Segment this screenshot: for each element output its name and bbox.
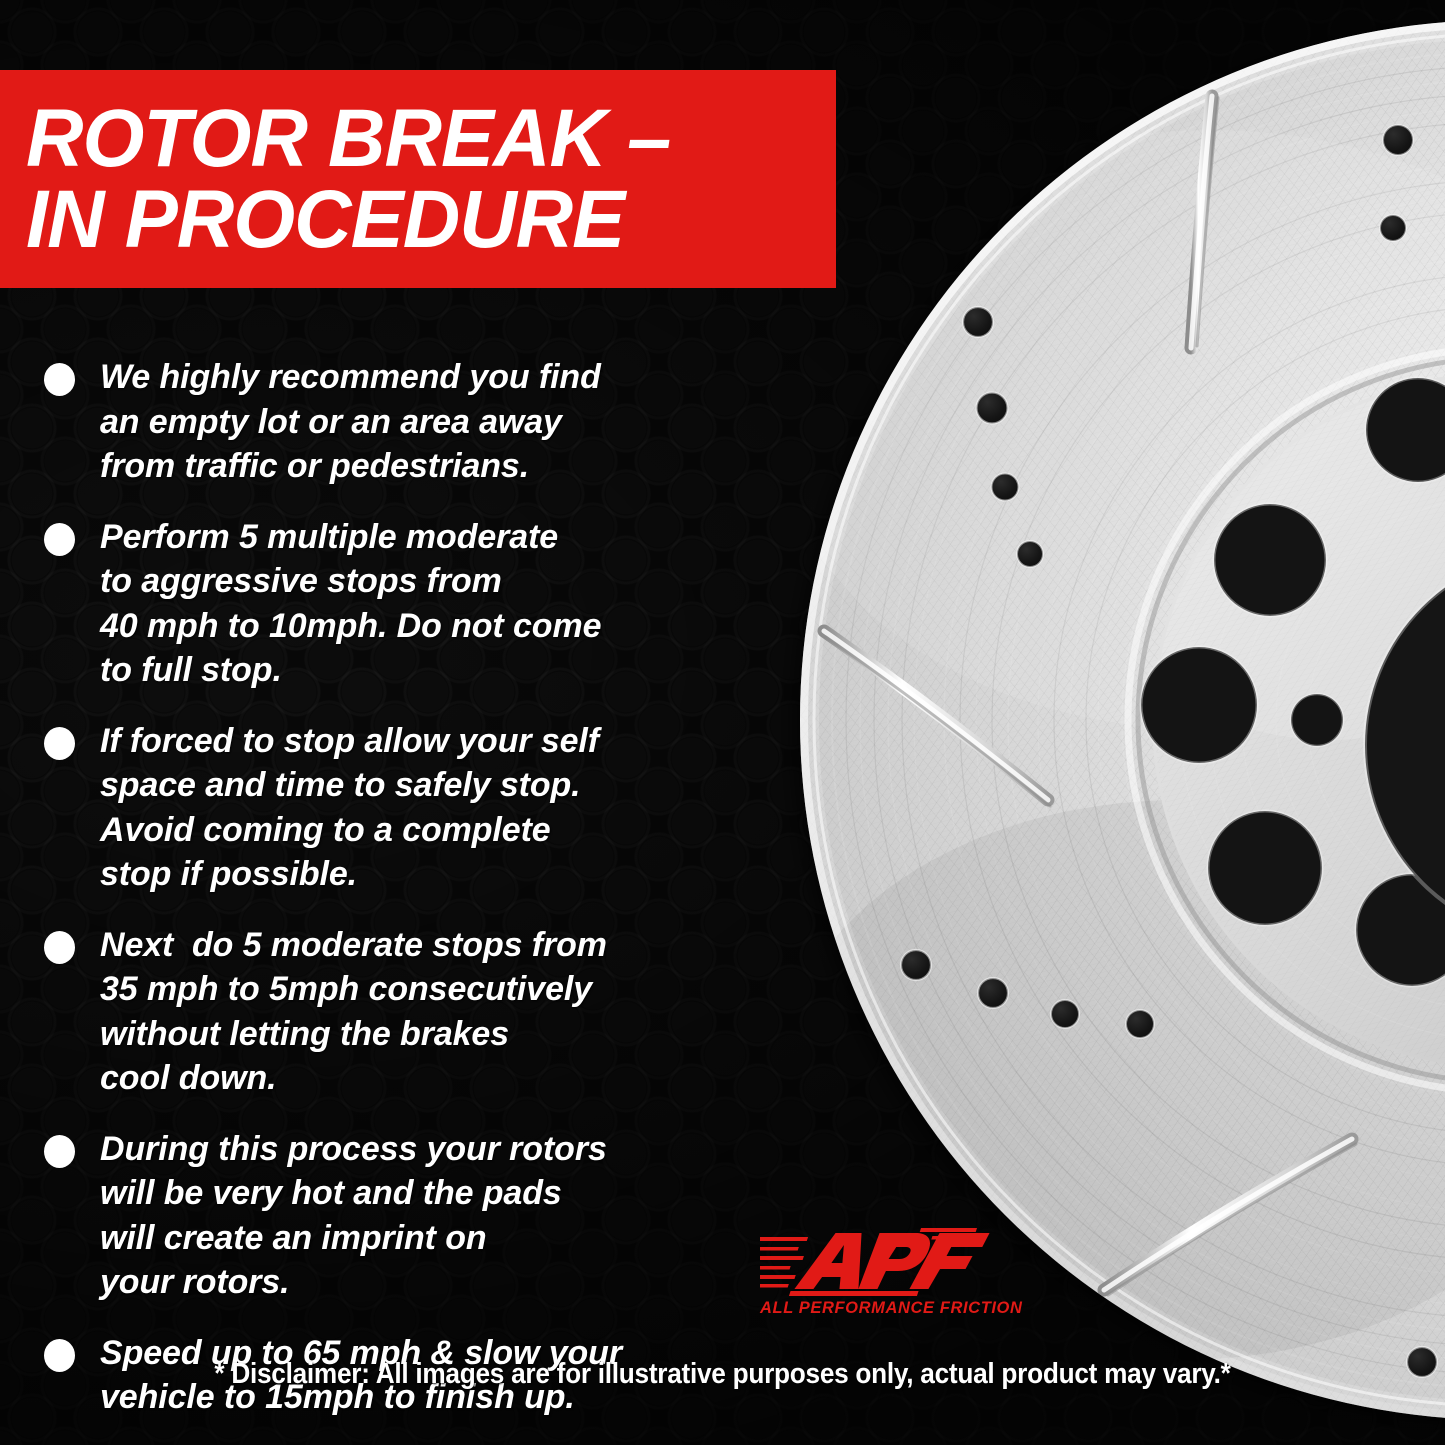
- list-item-text: We highly recommend you find an empty lo…: [100, 355, 601, 489]
- bullet-dot-icon: [44, 523, 75, 556]
- bullet-dot-icon: [44, 363, 75, 396]
- apf-logo-tagline: ALL PERFORMANCE FRICTION: [760, 1299, 995, 1318]
- list-item: During this process your rotors will be …: [44, 1127, 756, 1305]
- disclaimer-text: * Disclaimer: All images are for illustr…: [58, 1358, 1387, 1391]
- list-item-text: Perform 5 multiple moderate to aggressiv…: [100, 515, 601, 693]
- list-item: We highly recommend you find an empty lo…: [44, 355, 756, 489]
- bullet-dot-icon: [44, 931, 75, 964]
- list-item: If forced to stop allow your self space …: [44, 719, 756, 897]
- bullet-dot-icon: [44, 727, 75, 760]
- apf-logo: ALL PERFORMANCE FRICTION: [760, 1225, 995, 1330]
- title-line-2: IN PROCEDURE: [26, 179, 812, 260]
- title-banner: ROTOR BREAK – IN PROCEDURE: [0, 70, 836, 288]
- list-item: Perform 5 multiple moderate to aggressiv…: [44, 515, 756, 693]
- apf-logo-mark: [760, 1225, 995, 1297]
- list-item-text: During this process your rotors will be …: [100, 1127, 607, 1305]
- list-item-text: If forced to stop allow your self space …: [100, 719, 599, 897]
- title-line-1: ROTOR BREAK –: [26, 98, 812, 179]
- rotor-break-in-poster: ROTOR BREAK – IN PROCEDURE We highly rec…: [0, 0, 1445, 1445]
- list-item: Next do 5 moderate stops from 35 mph to …: [44, 923, 756, 1101]
- list-item-text: Next do 5 moderate stops from 35 mph to …: [100, 923, 607, 1101]
- bullet-dot-icon: [44, 1135, 75, 1168]
- procedure-steps-list: We highly recommend you find an empty lo…: [44, 355, 756, 1445]
